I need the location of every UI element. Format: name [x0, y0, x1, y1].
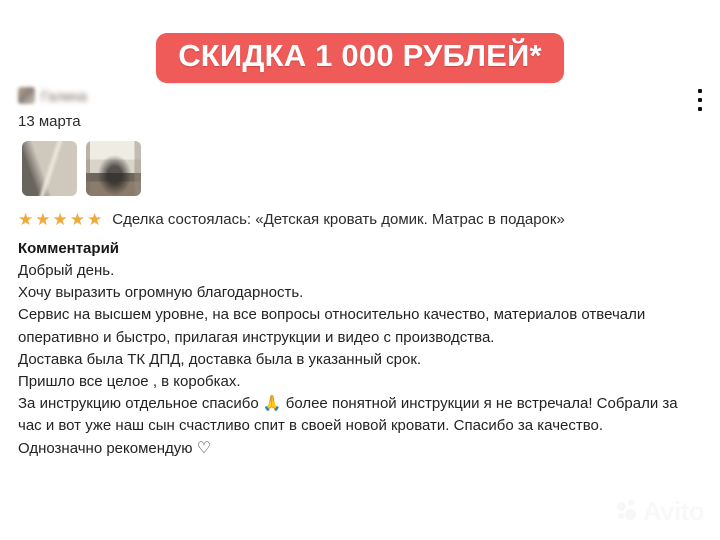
review-header: Галина 13 марта — [18, 86, 318, 130]
avito-watermark: Avito — [617, 498, 704, 524]
comment-line: час и вот уже наш сын счастливо спит в с… — [18, 415, 708, 437]
star-icon: ★ — [53, 211, 68, 228]
avito-logo-dot — [625, 509, 636, 520]
review-author-name[interactable]: Галина — [41, 88, 87, 104]
avito-logo-dot — [617, 502, 626, 511]
avatar — [18, 87, 35, 104]
comment-line: Доставка была ТК ДПД, доставка была в ук… — [18, 349, 708, 371]
comment-line: Хочу выразить огромную благодарность. — [18, 282, 708, 304]
deal-status-text: Сделка состоялась: «Детская кровать доми… — [112, 211, 565, 228]
star-icon: ★ — [35, 211, 50, 228]
kebab-dot-3 — [698, 107, 702, 111]
comment-line-recommend: Однозначно рекомендую ♡ — [18, 438, 708, 460]
promo-discount-banner: СКИДКА 1 000 РУБЛЕЙ* — [156, 33, 564, 83]
review-author-row[interactable]: Галина — [18, 86, 318, 105]
review-date: 13 марта — [18, 113, 318, 130]
avito-logo-icon — [617, 500, 639, 522]
comment-line: Сервис на высшем уровне, на все вопросы … — [18, 304, 708, 326]
comment-line: Пришло все целое , в коробках. — [18, 371, 708, 393]
comment-line-thanks: За инструкцию отдельное спасибо 🙏 более … — [18, 393, 708, 415]
folded-hands-icon: 🙏 — [263, 395, 282, 412]
heart-icon: ♡ — [197, 440, 211, 457]
avito-wordmark: Avito — [643, 498, 704, 524]
comment-thanks-after: более понятной инструкции я не встречала… — [286, 395, 678, 412]
avito-logo-dot — [628, 500, 634, 506]
kebab-dot-1 — [698, 89, 702, 93]
comment-heading: Комментарий — [18, 240, 708, 257]
review-photo-thumbnail[interactable] — [86, 141, 141, 196]
avito-logo-dot — [618, 513, 624, 519]
star-icon: ★ — [87, 211, 102, 228]
comment-thanks-before: За инструкцию отдельное спасибо — [18, 395, 259, 412]
promo-banner-container: СКИДКА 1 000 РУБЛЕЙ* — [0, 33, 720, 83]
comment-recommend-text: Однозначно рекомендую — [18, 440, 193, 457]
review-photo-thumbnail[interactable] — [22, 141, 77, 196]
star-rating: ★ ★ ★ ★ ★ — [18, 211, 102, 228]
star-icon: ★ — [70, 211, 85, 228]
kebab-dot-2 — [698, 98, 702, 102]
review-photo-list — [22, 141, 141, 196]
review-comment: Комментарий Добрый день. Хочу выразить о… — [18, 240, 708, 460]
star-icon: ★ — [18, 211, 33, 228]
comment-line: оперативно и быстро, прилагая инструкции… — [18, 327, 708, 349]
comment-line: Добрый день. — [18, 260, 708, 282]
rating-row: ★ ★ ★ ★ ★ Сделка состоялась: «Детская кр… — [18, 211, 565, 228]
kebab-menu-icon[interactable] — [697, 89, 703, 111]
